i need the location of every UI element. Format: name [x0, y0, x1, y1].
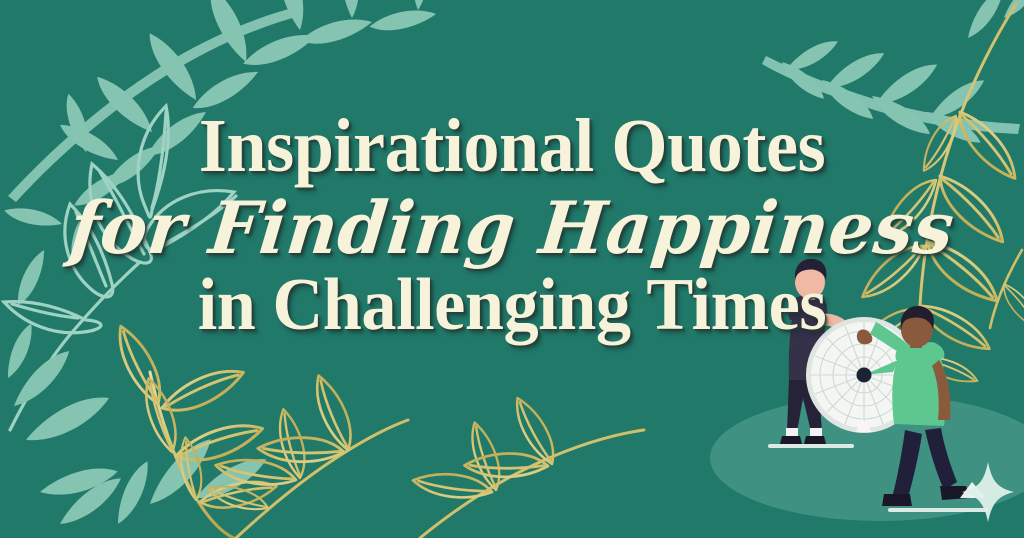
title-line-3: in Challenging Times — [26, 268, 999, 342]
paper-triangle-right — [960, 482, 986, 498]
paper-triangle-left — [856, 418, 872, 432]
bottom-center-gold-branch — [206, 371, 408, 538]
ground-line-left — [768, 444, 854, 448]
banner: Inspirational Quotes for Finding Happine… — [0, 0, 1024, 538]
compass-hub — [857, 368, 872, 383]
ground-line-right — [888, 508, 988, 512]
compass-needle — [864, 360, 898, 375]
title-line-2: for Finding Happiness — [12, 192, 1013, 264]
title-block: Inspirational Quotes for Finding Happine… — [0, 108, 1024, 342]
bottom-left-sage-branch — [0, 321, 272, 529]
bottom-right-gold-branch — [411, 392, 644, 538]
ellipse-platform — [710, 395, 1024, 521]
sparkle — [962, 462, 1014, 522]
title-line-1: Inspirational Quotes — [26, 108, 999, 184]
bottom-left-gold-branch — [114, 320, 277, 538]
